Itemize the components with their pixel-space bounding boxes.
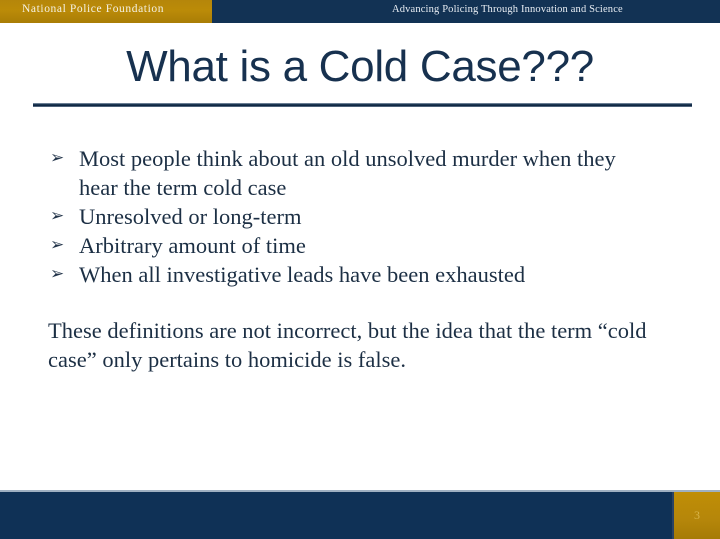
page-title: What is a Cold Case??? (0, 43, 720, 91)
list-item-label: Arbitrary amount of time (79, 231, 660, 260)
arrow-bullet-icon: ➢ (50, 231, 64, 260)
bullet-list: ➢ Most people think about an old unsolve… (0, 144, 720, 289)
slide-header-band: National Police Foundation Advancing Pol… (0, 0, 720, 23)
slide-content: ➢ Most people think about an old unsolve… (0, 144, 720, 374)
list-item-label: Unresolved or long-term (79, 202, 660, 231)
list-item-label: Most people think about an old unsolved … (79, 144, 660, 202)
organization-name: National Police Foundation (22, 3, 164, 15)
list-item: ➢ Unresolved or long-term (48, 202, 660, 231)
list-item: ➢ Arbitrary amount of time (48, 231, 660, 260)
list-item: ➢ Most people think about an old unsolve… (48, 144, 660, 202)
arrow-bullet-icon: ➢ (50, 202, 64, 231)
slide-footer-band: 3 (0, 490, 720, 539)
closing-paragraph: These definitions are not incorrect, but… (0, 289, 720, 374)
arrow-bullet-icon: ➢ (50, 144, 64, 173)
list-item-label: When all investigative leads have been e… (79, 260, 660, 289)
title-divider-rule (33, 103, 692, 107)
page-number: 3 (694, 508, 700, 523)
page-number-block: 3 (672, 492, 720, 539)
list-item: ➢ When all investigative leads have been… (48, 260, 660, 289)
arrow-bullet-icon: ➢ (50, 260, 64, 289)
slide: National Police Foundation Advancing Pol… (0, 0, 720, 539)
organization-tagline: Advancing Policing Through Innovation an… (392, 4, 623, 15)
